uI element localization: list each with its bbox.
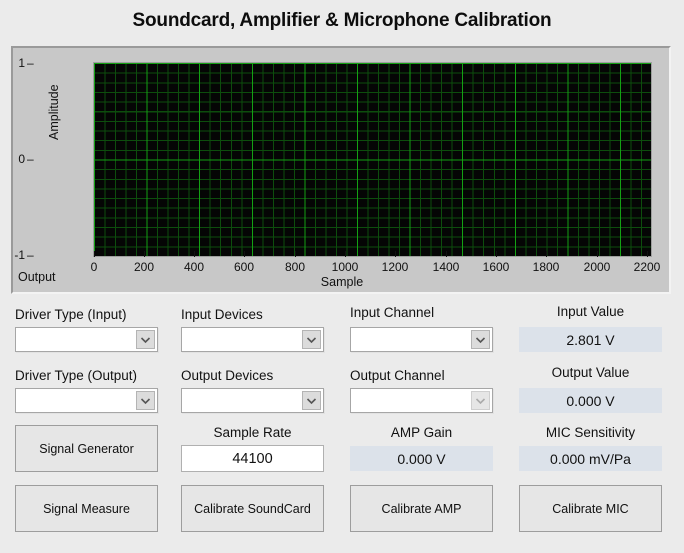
page-title: Soundcard, Amplifier & Microphone Calibr… xyxy=(0,10,684,32)
x-tick-mark xyxy=(345,251,346,257)
chevron-down-icon[interactable] xyxy=(471,391,490,410)
label-output-devices: Output Devices xyxy=(181,368,273,383)
y-tick-text: -1 xyxy=(14,248,25,262)
chevron-down-icon[interactable] xyxy=(302,391,321,410)
label-driver-type-output: Driver Type (Output) xyxy=(15,368,137,383)
x-tick-mark xyxy=(647,251,648,257)
x-tick-label: 1200 xyxy=(375,260,415,274)
x-tick-label: 2000 xyxy=(577,260,617,274)
signal-measure-button[interactable]: Signal Measure xyxy=(15,485,158,532)
y-tick-text: 1 xyxy=(18,56,25,70)
amp-gain-display: 0.000 V xyxy=(350,446,493,471)
x-tick-mark xyxy=(496,251,497,257)
x-tick-label: 1000 xyxy=(325,260,365,274)
x-tick-label: 200 xyxy=(124,260,164,274)
x-tick-mark xyxy=(94,251,95,257)
input-channel-combo[interactable] xyxy=(350,327,493,352)
chevron-down-icon[interactable] xyxy=(136,391,155,410)
x-tick-mark xyxy=(295,251,296,257)
y-tick-text: 0 xyxy=(18,152,25,166)
x-tick-label: 1600 xyxy=(476,260,516,274)
mic-sensitivity-display: 0.000 mV/Pa xyxy=(519,446,662,471)
application-window: Soundcard, Amplifier & Microphone Calibr… xyxy=(0,0,684,553)
label-amp-gain: AMP Gain xyxy=(350,425,493,440)
y-tick-dash: – xyxy=(27,56,34,70)
x-tick-mark xyxy=(395,251,396,257)
label-input-channel: Input Channel xyxy=(350,305,434,320)
x-tick-label: 2200 xyxy=(627,260,667,274)
y-axis-label: Amplitude xyxy=(47,84,61,140)
grid-major xyxy=(94,63,651,256)
sample-rate-input[interactable]: 44100 xyxy=(181,445,324,472)
driver-type-output-combo[interactable] xyxy=(15,388,158,413)
x-tick-label: 1400 xyxy=(426,260,466,274)
calibrate-amp-button[interactable]: Calibrate AMP xyxy=(350,485,493,532)
label-sample-rate: Sample Rate xyxy=(181,425,324,440)
label-driver-type-input: Driver Type (Input) xyxy=(15,307,127,322)
y-tick-label: 0– xyxy=(18,152,25,166)
x-tick-label: 1800 xyxy=(526,260,566,274)
label-input-value: Input Value xyxy=(519,304,662,319)
waveform-graph-panel: Amplitude 1– 0– -1– 0 200 400 600 800 10… xyxy=(11,46,671,294)
x-tick-mark xyxy=(194,251,195,257)
x-tick-label: 600 xyxy=(224,260,264,274)
y-tick-dash: – xyxy=(27,248,34,262)
chevron-down-icon[interactable] xyxy=(471,330,490,349)
input-devices-combo[interactable] xyxy=(181,327,324,352)
output-channel-combo[interactable] xyxy=(350,388,493,413)
calibrate-soundcard-button[interactable]: Calibrate SoundCard xyxy=(181,485,324,532)
y-tick-label: 1– xyxy=(18,56,25,70)
y-tick-label: -1– xyxy=(14,248,25,262)
calibrate-mic-button[interactable]: Calibrate MIC xyxy=(519,485,662,532)
label-output-value: Output Value xyxy=(519,365,662,380)
label-input-devices: Input Devices xyxy=(181,307,263,322)
x-tick-mark xyxy=(144,251,145,257)
x-tick-mark xyxy=(546,251,547,257)
x-tick-mark xyxy=(597,251,598,257)
x-tick-label: 0 xyxy=(74,260,114,274)
plot-area[interactable] xyxy=(93,62,652,257)
label-mic-sensitivity: MIC Sensitivity xyxy=(519,425,662,440)
output-devices-combo[interactable] xyxy=(181,388,324,413)
label-output-channel: Output Channel xyxy=(350,368,445,383)
output-value-display: 0.000 V xyxy=(519,388,662,413)
driver-type-input-combo[interactable] xyxy=(15,327,158,352)
x-tick-label: 800 xyxy=(275,260,315,274)
plot-wrapper: Amplitude 1– 0– -1– 0 200 400 600 800 10… xyxy=(13,48,669,292)
input-value-display: 2.801 V xyxy=(519,327,662,352)
x-tick-mark xyxy=(244,251,245,257)
chevron-down-icon[interactable] xyxy=(136,330,155,349)
y-tick-dash: – xyxy=(27,152,34,166)
chevron-down-icon[interactable] xyxy=(302,330,321,349)
x-tick-mark xyxy=(446,251,447,257)
x-tick-label: 400 xyxy=(174,260,214,274)
x-axis-label: Sample xyxy=(0,275,684,289)
signal-generator-button[interactable]: Signal Generator xyxy=(15,425,158,472)
